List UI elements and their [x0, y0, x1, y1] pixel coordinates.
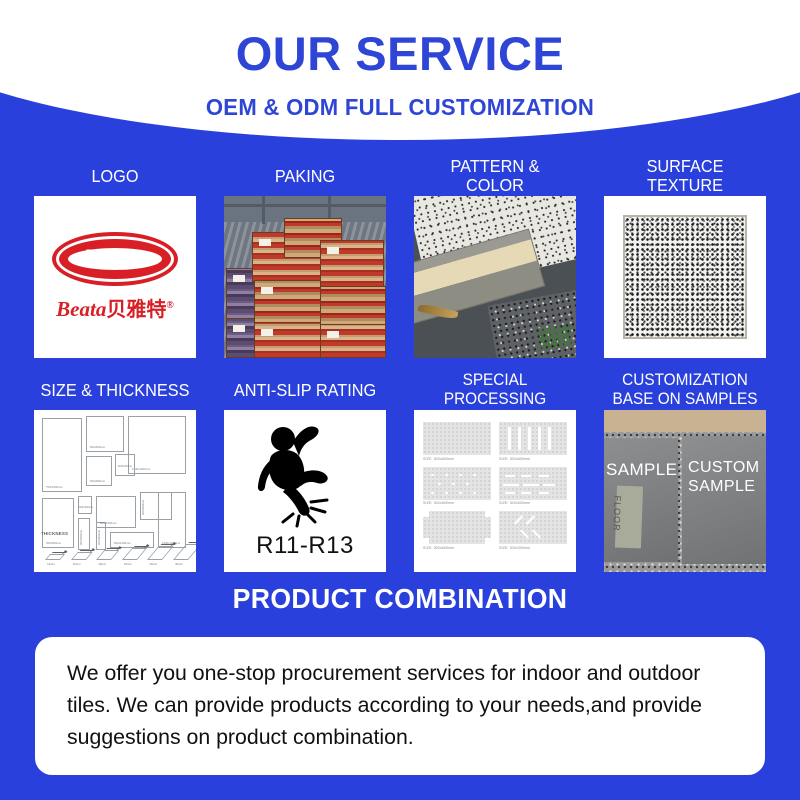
size-box-label: 600x900mm — [90, 480, 105, 483]
anti-slip-content: R11-R13 — [224, 410, 386, 572]
size-box-label: 300x300mm — [79, 506, 91, 509]
processing-sample: SIZE: 300x600mm — [423, 511, 491, 550]
sample-caption: SIZE: 300x600mm — [423, 546, 491, 550]
sample-tile-dotted — [423, 467, 491, 500]
product-combination-card: We offer you one-stop procurement servic… — [35, 637, 765, 775]
service-thumb-size-thickness: 750x1500mm 600x600mm 1200x1200mm 600x900… — [34, 410, 196, 572]
service-card-pattern-color[interactable]: PATTERN & COLOR — [414, 156, 576, 358]
sample-tile-grooved — [499, 422, 567, 455]
page-title: OUR SERVICE — [0, 26, 800, 81]
sample-tile-notched — [423, 511, 491, 544]
processing-sample: SIZE: 300x600mm — [423, 467, 491, 506]
thickness-item: 15mm — [66, 552, 88, 566]
size-box-label: 600x600mm — [116, 465, 134, 468]
product-combination-title: PRODUCT COMBINATION — [20, 583, 780, 615]
special-processing-samples: SIZE: 300x600mm SIZE: 300x600mm — [414, 410, 576, 572]
service-label-special-processing: SPECIAL PROCESSING — [420, 370, 571, 410]
service-thumb-logo: Beata Beata贝雅特® — [34, 196, 196, 358]
service-card-logo[interactable]: LOGO Beata Beata贝雅特® — [34, 156, 196, 358]
service-label-anti-slip: ANTI-SLIP RATING — [230, 370, 381, 410]
granite-tile-photo — [623, 215, 747, 339]
processing-sample: SIZE: 300x600mm — [499, 422, 567, 461]
beata-logo: Beata Beata贝雅特® — [34, 196, 196, 358]
size-box-label: 600x600mm — [90, 446, 105, 449]
sample-board-left-text: SAMPLE — [606, 460, 677, 479]
processing-sample: SIZE: 300x600mm — [423, 422, 491, 461]
sample-tape-strip: FLOOR — [615, 486, 643, 549]
service-card-customization[interactable]: CUSTOMIZATION BASE ON SAMPLES SAMPLE FLO… — [604, 370, 766, 572]
service-thumb-customization: SAMPLE FLOOR CUSTOM SAMPLE — [604, 410, 766, 572]
header-banner: OUR SERVICE OEM & ODM FULL CUSTOMIZATION — [0, 0, 800, 152]
sample-board-right: CUSTOM SAMPLE — [682, 436, 766, 564]
product-combination-paragraph: We offer you one-stop procurement servic… — [67, 657, 726, 753]
service-thumb-paking — [224, 196, 386, 358]
processing-sample: SIZE: 300x300mm — [499, 511, 567, 550]
thickness-label: 12mm — [40, 562, 62, 566]
processing-sample: SIZE: 300x600mm — [499, 467, 567, 506]
service-thumb-special-processing: SIZE: 300x600mm SIZE: 300x600mm — [414, 410, 576, 572]
thickness-item: 18mm — [91, 550, 113, 566]
sample-boards-photo: SAMPLE FLOOR CUSTOM SAMPLE — [604, 410, 766, 572]
size-box-label: 750x1500mm — [46, 486, 63, 489]
thickness-heading: THICKNESS — [41, 531, 68, 536]
page-subtitle: OEM & ODM FULL CUSTOMIZATION — [16, 94, 784, 121]
sample-board-left: SAMPLE FLOOR — [604, 438, 678, 562]
service-label-paking: PAKING — [230, 156, 381, 196]
size-box-label: 300x600mm — [142, 500, 145, 515]
leaf-decoration — [537, 324, 574, 351]
service-row-1: LOGO Beata Beata贝雅特® PAKING — [0, 156, 800, 358]
thickness-label: 15mm — [66, 562, 88, 566]
thickness-label: 18mm — [91, 562, 113, 566]
service-card-surface-texture[interactable]: SURFACE TEXTURE — [604, 156, 766, 358]
thickness-item: 30mm — [168, 544, 190, 566]
service-label-surface-texture: SURFACE TEXTURE — [610, 156, 761, 196]
thickness-row: 12mm 15mm 18mm 20mm 25mm 30mm — [40, 538, 190, 566]
logo-wordmark: Beata贝雅特® — [56, 293, 174, 322]
slip-hazard-pictogram — [249, 422, 361, 530]
thickness-label: 30mm — [168, 562, 190, 566]
thickness-item: 25mm — [142, 546, 164, 566]
service-card-anti-slip[interactable]: ANTI-SLIP RATING — [224, 370, 386, 572]
logo-wordmark-cjk: 贝雅特 — [106, 297, 166, 321]
service-card-paking[interactable]: PAKING — [224, 156, 386, 358]
sample-caption: SIZE: 300x300mm — [499, 546, 567, 550]
service-label-pattern-color: PATTERN & COLOR — [420, 156, 571, 196]
texture-wrapper — [604, 196, 766, 358]
service-thumb-pattern-color — [414, 196, 576, 358]
thickness-label: 25mm — [142, 562, 164, 566]
sample-caption: SIZE: 300x600mm — [499, 457, 567, 461]
sample-caption: SIZE: 300x600mm — [499, 501, 567, 505]
thickness-label: 20mm — [117, 562, 139, 566]
sample-tape-text: FLOOR — [611, 495, 622, 531]
service-thumb-surface-texture — [604, 196, 766, 358]
service-card-special-processing[interactable]: SPECIAL PROCESSING SIZE: 300x600mm — [414, 370, 576, 572]
service-label-logo: LOGO — [40, 156, 191, 196]
anti-slip-rating-code: R11-R13 — [256, 532, 354, 560]
warehouse-pallets-photo — [224, 196, 386, 358]
size-box-label: 600x1200mm — [100, 522, 117, 525]
sample-caption: SIZE: 300x600mm — [423, 501, 491, 505]
sample-board-right-text: CUSTOM SAMPLE — [688, 459, 759, 495]
service-label-size-thickness: SIZE & THICKNESS — [40, 370, 191, 410]
logo-oval-icon: Beata — [52, 232, 178, 286]
size-chart-diagram: 750x1500mm 600x600mm 1200x1200mm 600x900… — [34, 410, 196, 572]
logo-wordmark-latin: Beata — [56, 297, 106, 321]
product-combination-section: PRODUCT COMBINATION We offer you one-sto… — [0, 583, 800, 800]
logo-oval-text: Beata — [84, 245, 146, 273]
service-thumb-anti-slip: R11-R13 — [224, 410, 386, 572]
sample-caption: SIZE: 300x600mm — [423, 457, 491, 461]
service-grid: LOGO Beata Beata贝雅特® PAKING — [0, 156, 800, 572]
service-label-customization: CUSTOMIZATION BASE ON SAMPLES — [610, 370, 761, 410]
sample-tile-diagonal — [499, 511, 567, 544]
sample-tile-plain — [423, 422, 491, 455]
thickness-item: 20mm — [117, 548, 139, 566]
header-text-block: OUR SERVICE OEM & ODM FULL CUSTOMIZATION — [0, 0, 800, 121]
registered-mark-icon: ® — [166, 300, 173, 311]
service-card-size-thickness[interactable]: SIZE & THICKNESS 750x1500mm 600x600mm 12… — [34, 370, 196, 572]
stone-tiles-photo — [414, 196, 576, 358]
sample-tile-dashed — [499, 467, 567, 500]
service-row-2: SIZE & THICKNESS 750x1500mm 600x600mm 12… — [0, 370, 800, 572]
thickness-item: 12mm — [40, 554, 62, 566]
